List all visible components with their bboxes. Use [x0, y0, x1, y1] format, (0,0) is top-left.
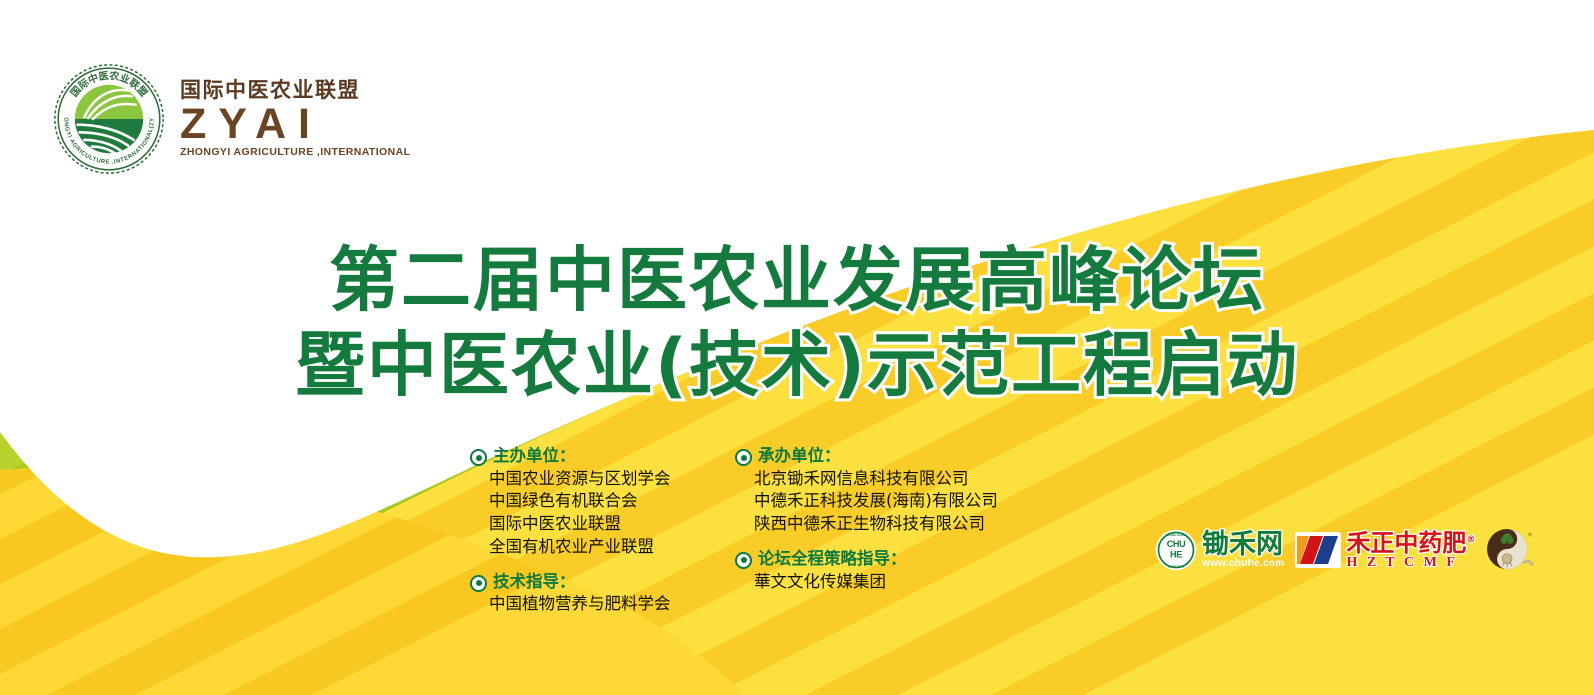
svg-text:CHUHE YEARS: CHUHE YEARS — [1165, 533, 1186, 537]
info-heading-label: 承办单位： — [758, 446, 841, 467]
info-heading-label: 技术指导： — [493, 572, 576, 593]
info-heading: 主办单位： — [470, 446, 750, 467]
wordmark-chinese: 国际中医农业联盟 — [180, 80, 410, 101]
zyai-logo-lockup: 国际中医农业联盟 ZHONGYI AGRICULTURE ,INTERNATIO… — [52, 62, 410, 176]
chuhe-circle-badge-icon: CHU HE CHUHE YEARS SINCE 2012 — [1155, 529, 1197, 571]
event-title: 第二届中医农业发展高峰论坛 暨中医农业(技术)示范工程启动 — [0, 238, 1594, 409]
sponsor-chuhe-url: www.chuhe.com — [1202, 559, 1284, 569]
info-item: 全国有机农业产业联盟 — [489, 536, 750, 559]
svg-text:SINCE 2012: SINCE 2012 — [1168, 565, 1185, 569]
info-group-technical-guidance: 技术指导： 中国植物营养与肥料学会 — [470, 572, 750, 616]
info-heading: 技术指导： — [470, 572, 750, 593]
sponsor-hztcmf: 禾正中药肥® H Z T C M F — [1295, 531, 1475, 570]
sponsor-tree-root-emblem: ® — [1486, 528, 1534, 572]
wordmark-abbr: ZYAI — [180, 104, 410, 145]
registered-mark-icon: ® — [1466, 535, 1475, 545]
info-group-co-organizers: 承办单位： 北京锄禾网信息科技有限公司 中德禾正科技发展(海南)有限公司 陕西中… — [735, 446, 1065, 536]
info-heading: 承办单位： — [735, 446, 1065, 467]
organizer-info: 主办单位： 中国农业资源与区划学会 中国绿色有机联合会 国际中医农业联盟 全国有… — [470, 446, 1170, 629]
info-heading-label: 论坛全程策略指导： — [758, 549, 907, 570]
bullet-icon — [735, 552, 752, 569]
bullet-icon — [470, 575, 487, 592]
sponsor-logo-strip: CHU HE CHUHE YEARS SINCE 2012 锄禾网 www.ch… — [1155, 528, 1534, 572]
info-group-strategy-guidance: 论坛全程策略指导： 華文文化传媒集团 — [735, 549, 1065, 593]
info-column-right: 承办单位： 北京锄禾网信息科技有限公司 中德禾正科技发展(海南)有限公司 陕西中… — [735, 446, 1065, 629]
info-group-organizers: 主办单位： 中国农业资源与区划学会 中国绿色有机联合会 国际中医农业联盟 全国有… — [470, 446, 750, 559]
info-item: 中国绿色有机联合会 — [489, 490, 750, 513]
info-heading: 论坛全程策略指导： — [735, 549, 1065, 570]
wordmark-english: ZHONGYI AGRICULTURE ,INTERNATIONAL — [180, 147, 410, 158]
title-line-1: 第二届中医农业发展高峰论坛 — [0, 238, 1594, 323]
sponsor-hztcmf-name: 禾正中药肥® — [1346, 531, 1475, 555]
sponsor-hztcmf-abbr: H Z T C M F — [1346, 556, 1475, 570]
zyai-wordmark: 国际中医农业联盟 ZYAI ZHONGYI AGRICULTURE ,INTER… — [180, 80, 410, 157]
sponsor-chuhe-name: 锄禾网 — [1202, 531, 1284, 558]
info-heading-label: 主办单位： — [493, 446, 576, 467]
svg-text:CHU: CHU — [1167, 539, 1186, 549]
info-item: 北京锄禾网信息科技有限公司 — [754, 468, 1065, 491]
hz-diagonal-stripe-icon — [1295, 532, 1341, 568]
info-item: 中德禾正科技发展(海南)有限公司 — [754, 490, 1065, 513]
title-line-2: 暨中医农业(技术)示范工程启动 — [0, 323, 1594, 408]
conference-banner: 国际中医农业联盟 ZHONGYI AGRICULTURE ,INTERNATIO… — [0, 0, 1594, 695]
info-column-left: 主办单位： 中国农业资源与区划学会 中国绿色有机联合会 国际中医农业联盟 全国有… — [470, 446, 750, 629]
sponsor-chuhe: CHU HE CHUHE YEARS SINCE 2012 锄禾网 www.ch… — [1155, 529, 1284, 571]
svg-text:®: ® — [1529, 532, 1533, 539]
bullet-icon — [735, 449, 752, 466]
info-item: 中国农业资源与区划学会 — [489, 468, 750, 491]
bullet-icon — [470, 449, 487, 466]
svg-text:HE: HE — [1170, 550, 1182, 560]
info-item: 華文文化传媒集团 — [754, 571, 1065, 594]
info-item: 国际中医农业联盟 — [489, 513, 750, 536]
tree-root-circle-emblem-icon: ® — [1486, 528, 1534, 572]
info-item: 中国植物营养与肥料学会 — [489, 593, 750, 616]
info-item: 陕西中德禾正生物科技有限公司 — [754, 513, 1065, 536]
zyai-seal-icon: 国际中医农业联盟 ZHONGYI AGRICULTURE ,INTERNATIO… — [52, 62, 166, 176]
